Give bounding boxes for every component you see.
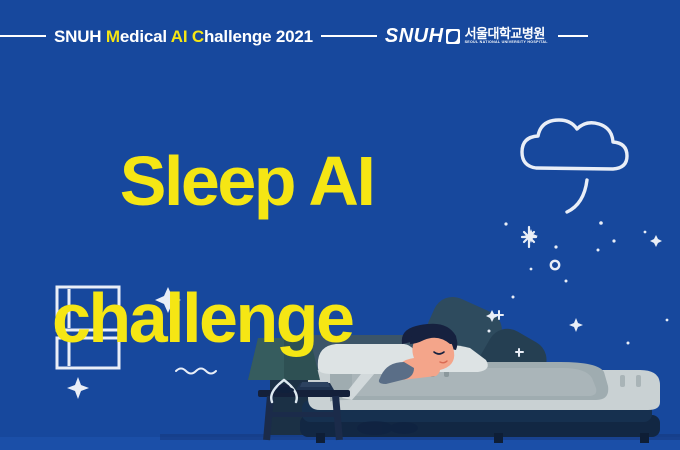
ring-dot-icon <box>551 261 559 269</box>
snuh-wordmark: SNUH <box>385 26 444 46</box>
sparkle-star-icon <box>650 235 662 247</box>
header-rule-left <box>0 35 46 37</box>
poster-canvas: SNUH Medical AI Challenge 2021 SNUH 서울대학… <box>0 0 680 450</box>
headline-line-2: challenge <box>52 284 373 353</box>
snuh-emblem-icon <box>446 29 460 44</box>
page-title: Sleep AI challenge <box>52 78 373 450</box>
header-rule-middle <box>321 35 377 37</box>
snuh-logo: SNUH 서울대학교병원 SEOUL NATIONAL UNIVERSITY H… <box>385 26 548 46</box>
headline-line-1: Sleep AI <box>120 142 374 220</box>
sparkle-star-icon <box>569 318 583 332</box>
snuh-name-block: 서울대학교병원 SEOUL NATIONAL UNIVERSITY HOSPIT… <box>465 27 548 45</box>
sparkle-burst-icon <box>522 227 536 247</box>
twinkle-plus-group <box>495 311 523 356</box>
header-rule-right <box>558 35 588 37</box>
snuh-english-name: SEOUL NATIONAL UNIVERSITY HOSPITAL <box>465 41 548 45</box>
snuh-korean-name: 서울대학교병원 <box>465 27 548 41</box>
header-bar: SNUH Medical AI Challenge 2021 SNUH 서울대학… <box>0 22 680 50</box>
thought-cloud-icon <box>522 120 627 212</box>
challenge-title: SNUH Medical AI Challenge 2021 <box>54 28 313 45</box>
